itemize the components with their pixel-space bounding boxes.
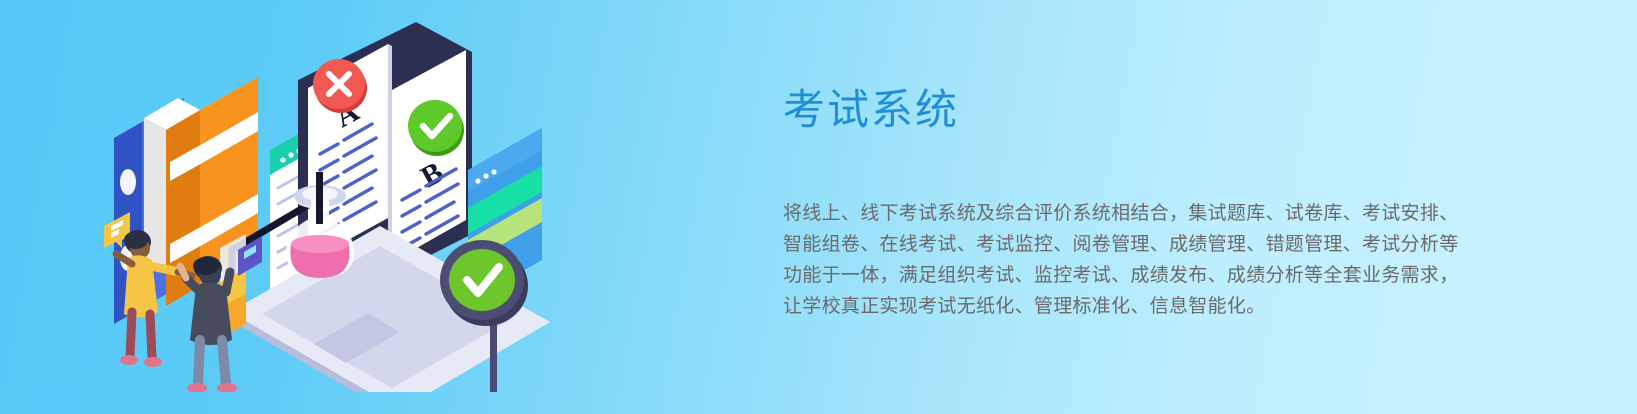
description-line-2: 智能组卷、在线考试、考试监控、阅卷管理、成绩管理、错题管理、考试分析等: [783, 229, 1503, 260]
exam-system-banner: A B: [0, 0, 1637, 414]
page-title: 考试系统: [783, 85, 1503, 135]
description-line-4: 让学校真正实现考试无纸化、管理标准化、信息智能化。: [783, 291, 1503, 322]
banner-content: 考试系统 将线上、线下考试系统及综合评价系统相结合，集试题库、试卷库、考试安排、…: [783, 85, 1503, 322]
illustration: A B: [80, 22, 600, 392]
description-line-1: 将线上、线下考试系统及综合评价系统相结合，集试题库、试卷库、考试安排、: [783, 198, 1503, 229]
description-line-3: 功能于一体，满足组织考试、监控考试、成绩发布、成绩分析等全套业务需求，: [783, 260, 1503, 291]
person-man-icon: [180, 256, 237, 392]
page-description: 将线上、线下考试系统及综合评价系统相结合，集试题库、试卷库、考试安排、 智能组卷…: [783, 198, 1503, 322]
